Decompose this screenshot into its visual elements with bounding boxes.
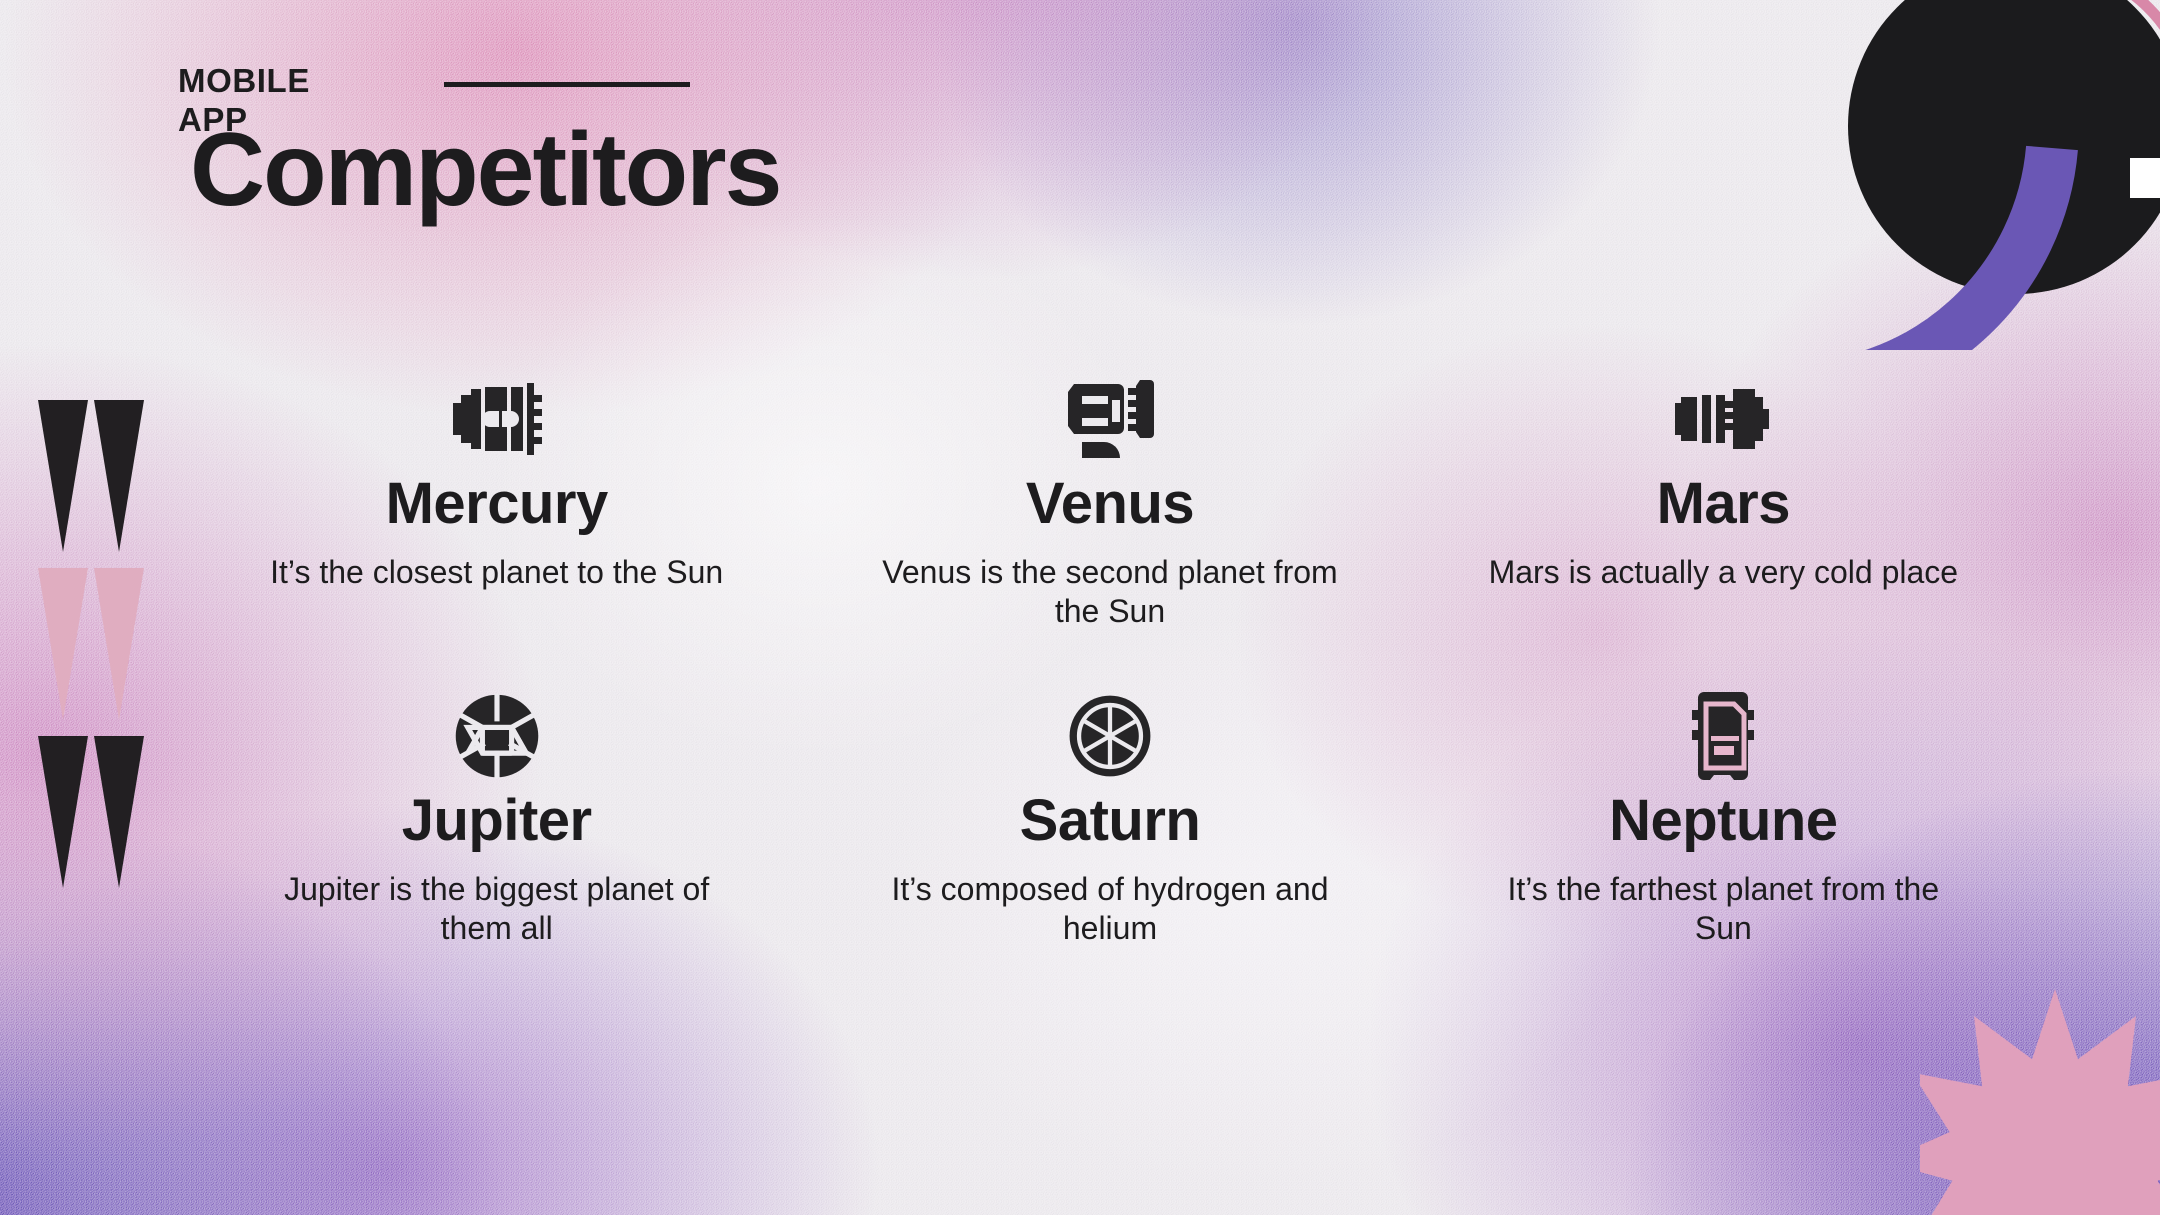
grid-item-title: Saturn bbox=[1020, 791, 1201, 852]
white-square-shape bbox=[2130, 158, 2160, 198]
grid-item-description: It’s composed of hydrogen and helium bbox=[875, 870, 1345, 948]
camera-lens-icon bbox=[447, 376, 547, 462]
top-right-decoration bbox=[1794, 0, 2160, 350]
video-camera-icon bbox=[1060, 376, 1160, 462]
grid-item-title: Mars bbox=[1657, 474, 1790, 535]
grid-item-description: It’s the farthest planet from the Sun bbox=[1488, 870, 1958, 948]
w-mark-black-top bbox=[38, 400, 152, 552]
grid-item-saturn: Saturn It’s composed of hydrogen and hel… bbox=[823, 693, 1396, 948]
grid-item-title: Mercury bbox=[386, 474, 608, 535]
left-w-marks bbox=[38, 400, 152, 904]
page-title: Competitors bbox=[190, 118, 780, 222]
aperture-filled-icon bbox=[447, 693, 547, 779]
grid-item-mercury: Mercury It’s the closest planet to the S… bbox=[210, 376, 783, 631]
grid-item-description: Venus is the second planet from the Sun bbox=[875, 553, 1345, 631]
camera-lens-flipped-icon bbox=[1673, 376, 1773, 462]
grid-item-title: Neptune bbox=[1609, 791, 1838, 852]
grid-item-description: It’s the closest planet to the Sun bbox=[270, 553, 723, 592]
aperture-ring-icon bbox=[1060, 693, 1160, 779]
w-mark-black-bottom bbox=[38, 736, 152, 888]
grid-item-neptune: Neptune It’s the farthest planet from th… bbox=[1437, 693, 2010, 948]
grid-item-jupiter: Jupiter Jupiter is the biggest planet of… bbox=[210, 693, 783, 948]
eyebrow-line-1: MOBILE bbox=[178, 62, 438, 101]
slide-canvas: MOBILE APP Competitors bbox=[0, 0, 2160, 1215]
w-mark-pink-middle bbox=[38, 568, 152, 720]
sd-card-icon bbox=[1673, 693, 1773, 779]
grid-item-title: Jupiter bbox=[402, 791, 592, 852]
grid-item-mars: Mars Mars is actually a very cold place bbox=[1437, 376, 2010, 631]
grid-item-description: Jupiter is the biggest planet of them al… bbox=[262, 870, 732, 948]
star-burst-shape bbox=[1920, 989, 2160, 1215]
grid-item-venus: Venus Venus is the second planet from th… bbox=[823, 376, 1396, 631]
bottom-right-star-decoration bbox=[1920, 989, 2160, 1215]
grid-item-description: Mars is actually a very cold place bbox=[1489, 553, 1959, 592]
grid-item-title: Venus bbox=[1026, 474, 1194, 535]
competitor-grid: Mercury It’s the closest planet to the S… bbox=[210, 376, 2010, 948]
eyebrow-rule-divider bbox=[444, 82, 690, 87]
